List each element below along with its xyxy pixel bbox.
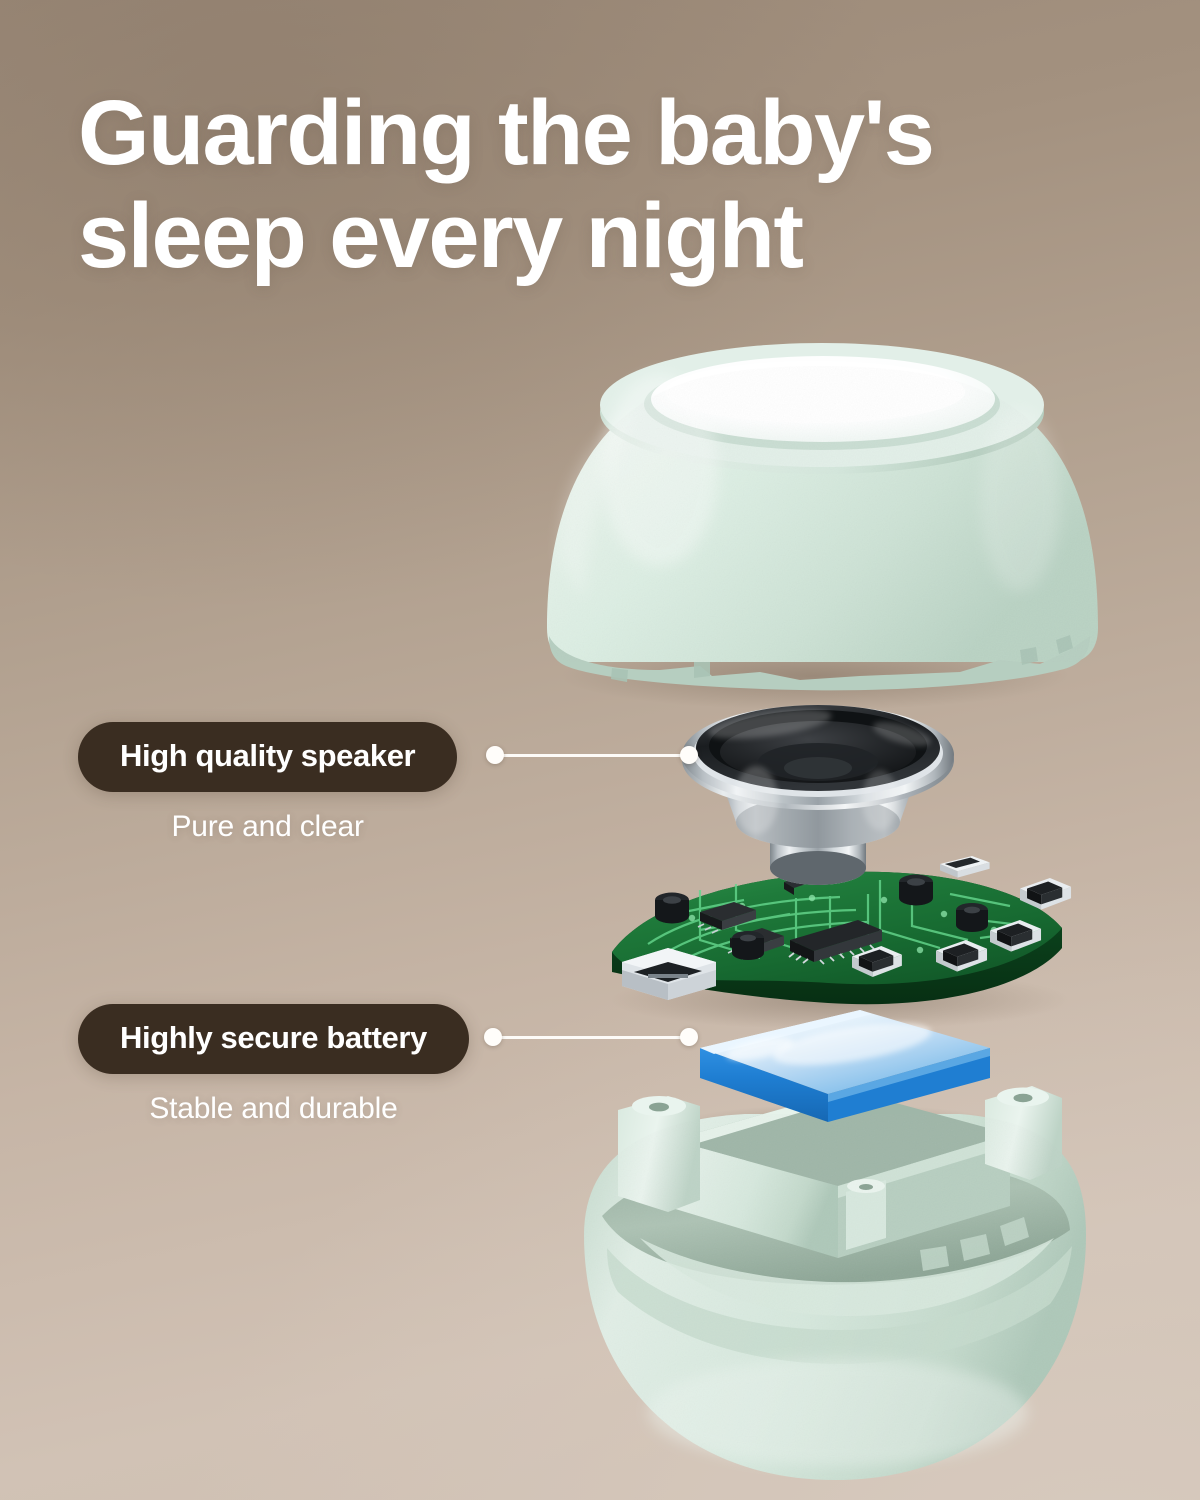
connector-speaker-dot-start bbox=[486, 746, 504, 764]
connector-battery-dot-start bbox=[484, 1028, 502, 1046]
connector-battery-dot-end bbox=[680, 1028, 698, 1046]
callout-battery: Highly secure battery Stable and durable bbox=[78, 1004, 469, 1126]
callout-speaker: High quality speaker Pure and clear bbox=[78, 722, 457, 844]
connector-speaker-line bbox=[494, 754, 690, 757]
callout-battery-subtitle: Stable and durable bbox=[78, 1092, 469, 1126]
connector-speaker-dot-end bbox=[680, 746, 698, 764]
connector-speaker bbox=[486, 745, 698, 765]
page-title: Guarding the baby's sleep every night bbox=[78, 82, 1148, 288]
callout-battery-pill[interactable]: Highly secure battery bbox=[78, 1004, 469, 1074]
connector-battery-line bbox=[492, 1036, 690, 1039]
callout-speaker-subtitle: Pure and clear bbox=[78, 810, 457, 844]
connector-battery bbox=[484, 1027, 698, 1047]
infographic-canvas: Guarding the baby's sleep every night Hi… bbox=[0, 0, 1200, 1500]
callout-speaker-pill[interactable]: High quality speaker bbox=[78, 722, 457, 792]
